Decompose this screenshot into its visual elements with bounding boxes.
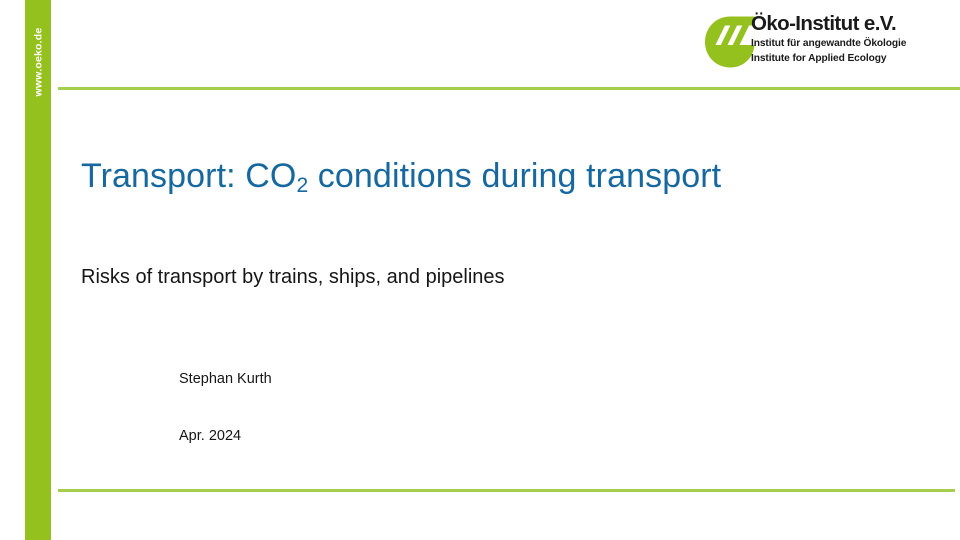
presentation-date: Apr. 2024 — [179, 428, 241, 444]
left-green-bar: www.oeko.de — [25, 0, 51, 540]
divider-top — [58, 87, 960, 90]
page-title-subscript: 2 — [296, 174, 308, 197]
logo-subtitle-de: Institut für angewandte Ökologie — [751, 37, 951, 50]
sidebar-url: www.oeko.de — [25, 0, 51, 160]
sidebar-url-text: www.oeko.de — [32, 28, 44, 97]
page-title-suffix: conditions during transport — [308, 157, 721, 195]
logo-subtitle-en: Institute for Applied Ecology — [751, 52, 951, 65]
author-name: Stephan Kurth — [179, 371, 272, 387]
presentation-slide: www.oeko.de Öko-Institut e.V. Institut f… — [0, 0, 960, 540]
logo-title: Öko-Institut e.V. — [751, 13, 951, 35]
page-title: Transport: CO2 conditions during transpo… — [81, 157, 721, 196]
brand-logo: Öko-Institut e.V. Institut für angewandt… — [703, 13, 951, 75]
page-subtitle: Risks of transport by trains, ships, and… — [81, 266, 505, 289]
divider-bottom — [58, 489, 955, 492]
logo-wordmark: Öko-Institut e.V. Institut für angewandt… — [751, 13, 951, 65]
page-title-prefix: Transport: CO — [81, 157, 296, 195]
oeko-institut-leaf-mark-icon — [703, 15, 757, 69]
